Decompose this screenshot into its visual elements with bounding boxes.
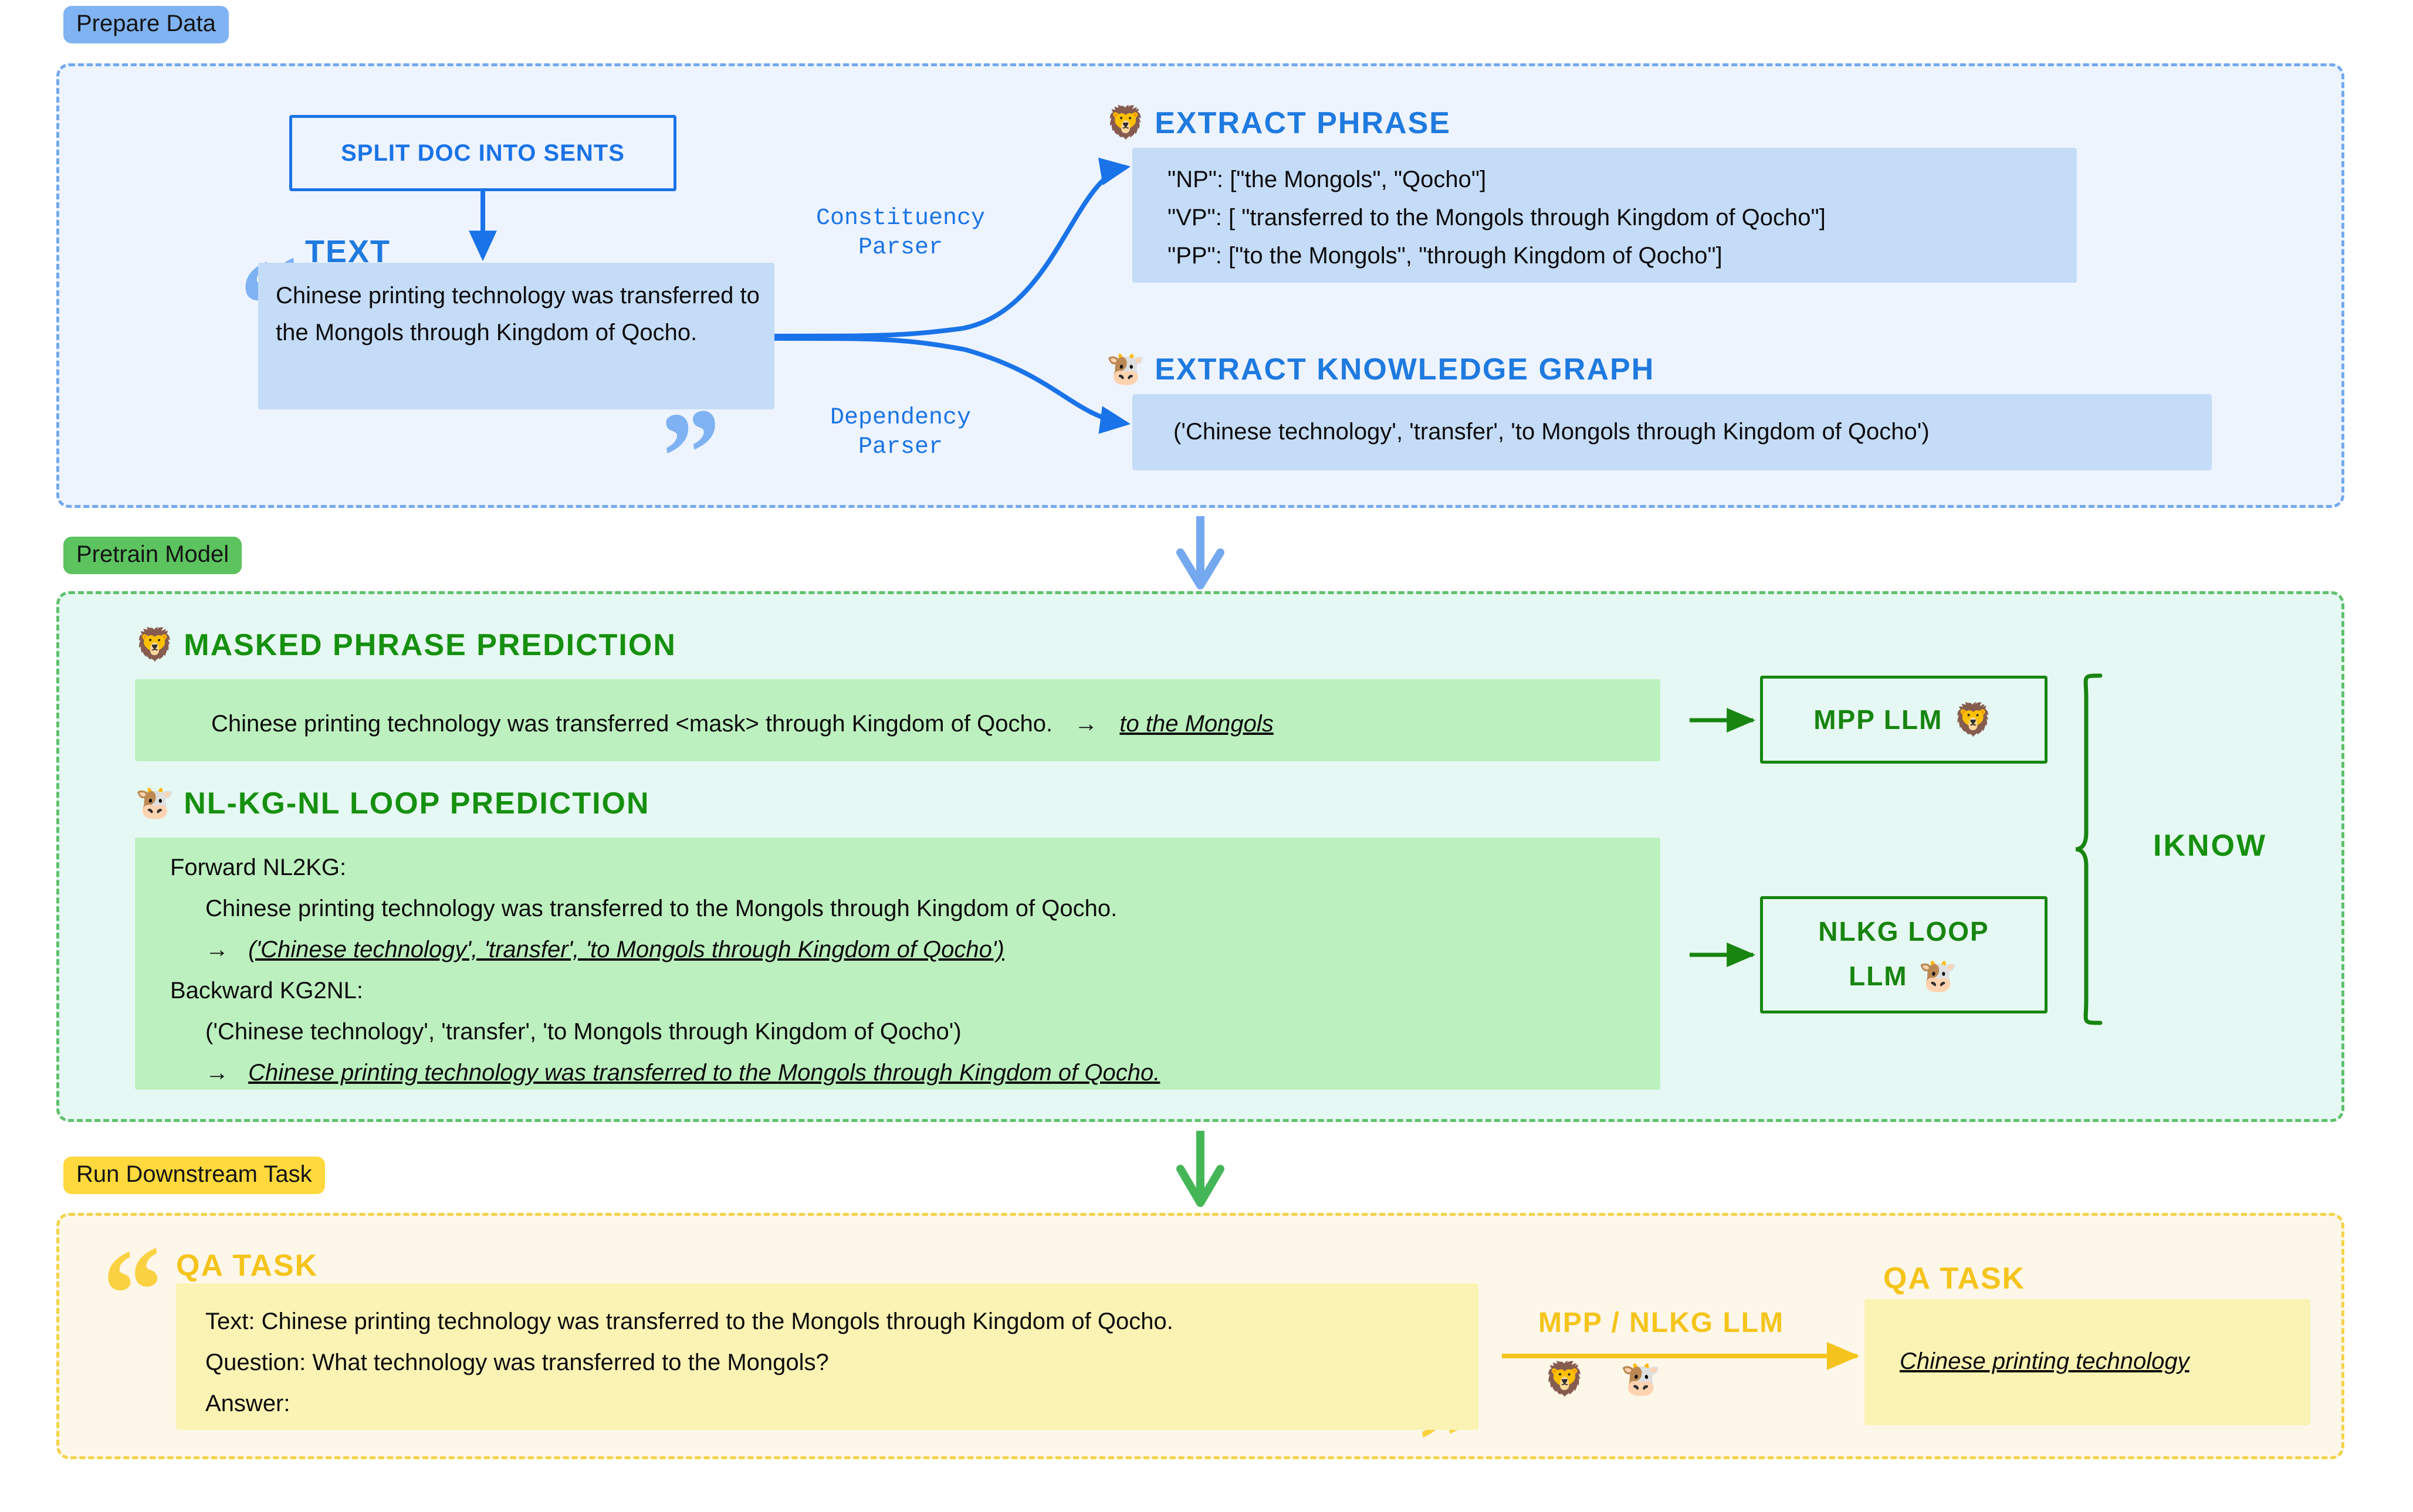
extract-phrase-line-vp: "VP": [ "transferred to the Mongols thro… <box>1167 199 1826 236</box>
llm-arrow-label: MPP / NLKG LLM <box>1538 1307 1784 1339</box>
mpp-heading: 🦁 MASKED PHRASE PREDICTION <box>135 626 676 663</box>
nlkg-backward-output-row: → Chinese printing technology was transf… <box>205 1055 1160 1091</box>
extract-phrase-line-pp: "PP": ["to the Mongols", "through Kingdo… <box>1167 238 1722 274</box>
qa-answer-text: Chinese printing technology <box>1900 1343 2189 1380</box>
qa-prompt-line-question: Question: What technology was transferre… <box>205 1344 829 1381</box>
llm-emoji-pair: 🦁 🐮 <box>1544 1360 1661 1398</box>
tiger-face-icon: 🦁 <box>1106 104 1146 141</box>
extract-phrase-heading: 🦁 EXTRACT PHRASE <box>1106 104 1451 141</box>
cow-face-icon: 🐮 <box>1106 351 1146 388</box>
mpp-llm-row: MPP LLM 🦁 <box>1813 701 1994 738</box>
dependency-parser-label: DependencyParser <box>769 404 1033 462</box>
qa-prompt-line-text: Text: Chinese printing technology was tr… <box>205 1303 1173 1340</box>
mpp-arrow-glyph: → <box>1059 711 1113 737</box>
nlkg-heading-text: NL-KG-NL LOOP PREDICTION <box>184 786 649 821</box>
nlkg-forward-input: Chinese printing technology was transfer… <box>205 890 1117 927</box>
extract-kg-heading-text: EXTRACT KNOWLEDGE GRAPH <box>1155 352 1654 387</box>
tiger-face-icon: 🦁 <box>1544 1360 1585 1398</box>
nlkg-llm-box: NLKG LOOP LLM 🐮 <box>1760 896 2048 1013</box>
split-doc-box: SPLIT DOC INTO SENTS <box>289 115 676 191</box>
nlkg-forward-output-row: → ('Chinese technology', 'transfer', 'to… <box>205 931 1004 968</box>
diagram-canvas: Prepare Data SPLIT DOC INTO SENTS “ ” TE… <box>0 0 2413 1512</box>
extract-kg-line: ('Chinese technology', 'transfer', 'to M… <box>1173 413 1930 450</box>
mpp-sentence: Chinese printing technology was transfer… <box>211 711 1052 737</box>
mpp-llm-box: MPP LLM 🦁 <box>1760 676 2048 764</box>
extract-phrase-line-np: "NP": ["the Mongols", "Qocho"] <box>1167 161 1486 198</box>
text-source-body: Chinese printing technology was transfer… <box>276 277 763 351</box>
mpp-sentence-row: Chinese printing technology was transfer… <box>211 706 1274 743</box>
cow-face-icon: 🐮 <box>1620 1360 1661 1398</box>
nlkg-backward-input: ('Chinese technology', 'transfer', 'to M… <box>205 1013 962 1050</box>
nlkg-forward-label: Forward NL2KG: <box>170 849 346 886</box>
decorative-open-quote-icon: “ <box>100 1251 171 1333</box>
arrow-pretrain-to-downstream-head <box>1180 1169 1220 1203</box>
qa-task-label-right: QA TASK <box>1883 1261 2025 1296</box>
mpp-answer: to the Mongols <box>1119 711 1273 737</box>
section-tag-pretrain-model: Pretrain Model <box>63 537 242 574</box>
nlkg-heading: 🐮 NL-KG-NL LOOP PREDICTION <box>135 785 650 822</box>
nlkg-llm-label-line1: NLKG LOOP <box>1818 916 1989 947</box>
nlkg-forward-arrow-glyph: → <box>205 937 229 962</box>
tiger-face-icon: 🦁 <box>135 626 175 663</box>
nlkg-llm-label-line2: LLM <box>1849 960 1908 992</box>
mpp-heading-text: MASKED PHRASE PREDICTION <box>184 628 676 663</box>
extract-phrase-heading-text: EXTRACT PHRASE <box>1155 106 1451 141</box>
cow-face-icon: 🐮 <box>135 785 175 822</box>
nlkg-llm-row: LLM 🐮 <box>1849 958 1959 995</box>
iknow-label: IKNOW <box>2153 828 2267 863</box>
nlkg-forward-output: ('Chinese technology', 'transfer', 'to M… <box>248 937 1004 962</box>
qa-prompt-line-answer: Answer: <box>205 1385 290 1422</box>
cow-face-icon: 🐮 <box>1918 958 1959 995</box>
tiger-face-icon: 🦁 <box>1953 701 1994 738</box>
constituency-parser-label: ConstituencyParser <box>769 204 1033 263</box>
nlkg-backward-output: Chinese printing technology was transfer… <box>248 1060 1160 1086</box>
nlkg-backward-label: Backward KG2NL: <box>170 972 363 1009</box>
nlkg-backward-arrow-glyph: → <box>205 1060 229 1086</box>
arrow-prepare-to-pretrain-head <box>1180 552 1220 585</box>
section-tag-run-downstream-task: Run Downstream Task <box>63 1157 325 1194</box>
qa-task-label-left: QA TASK <box>176 1248 318 1283</box>
decorative-close-quote-icon: ” <box>658 412 730 494</box>
mpp-llm-label: MPP LLM <box>1813 704 1942 735</box>
section-tag-prepare-data: Prepare Data <box>63 6 229 43</box>
extract-kg-heading: 🐮 EXTRACT KNOWLEDGE GRAPH <box>1106 351 1654 388</box>
